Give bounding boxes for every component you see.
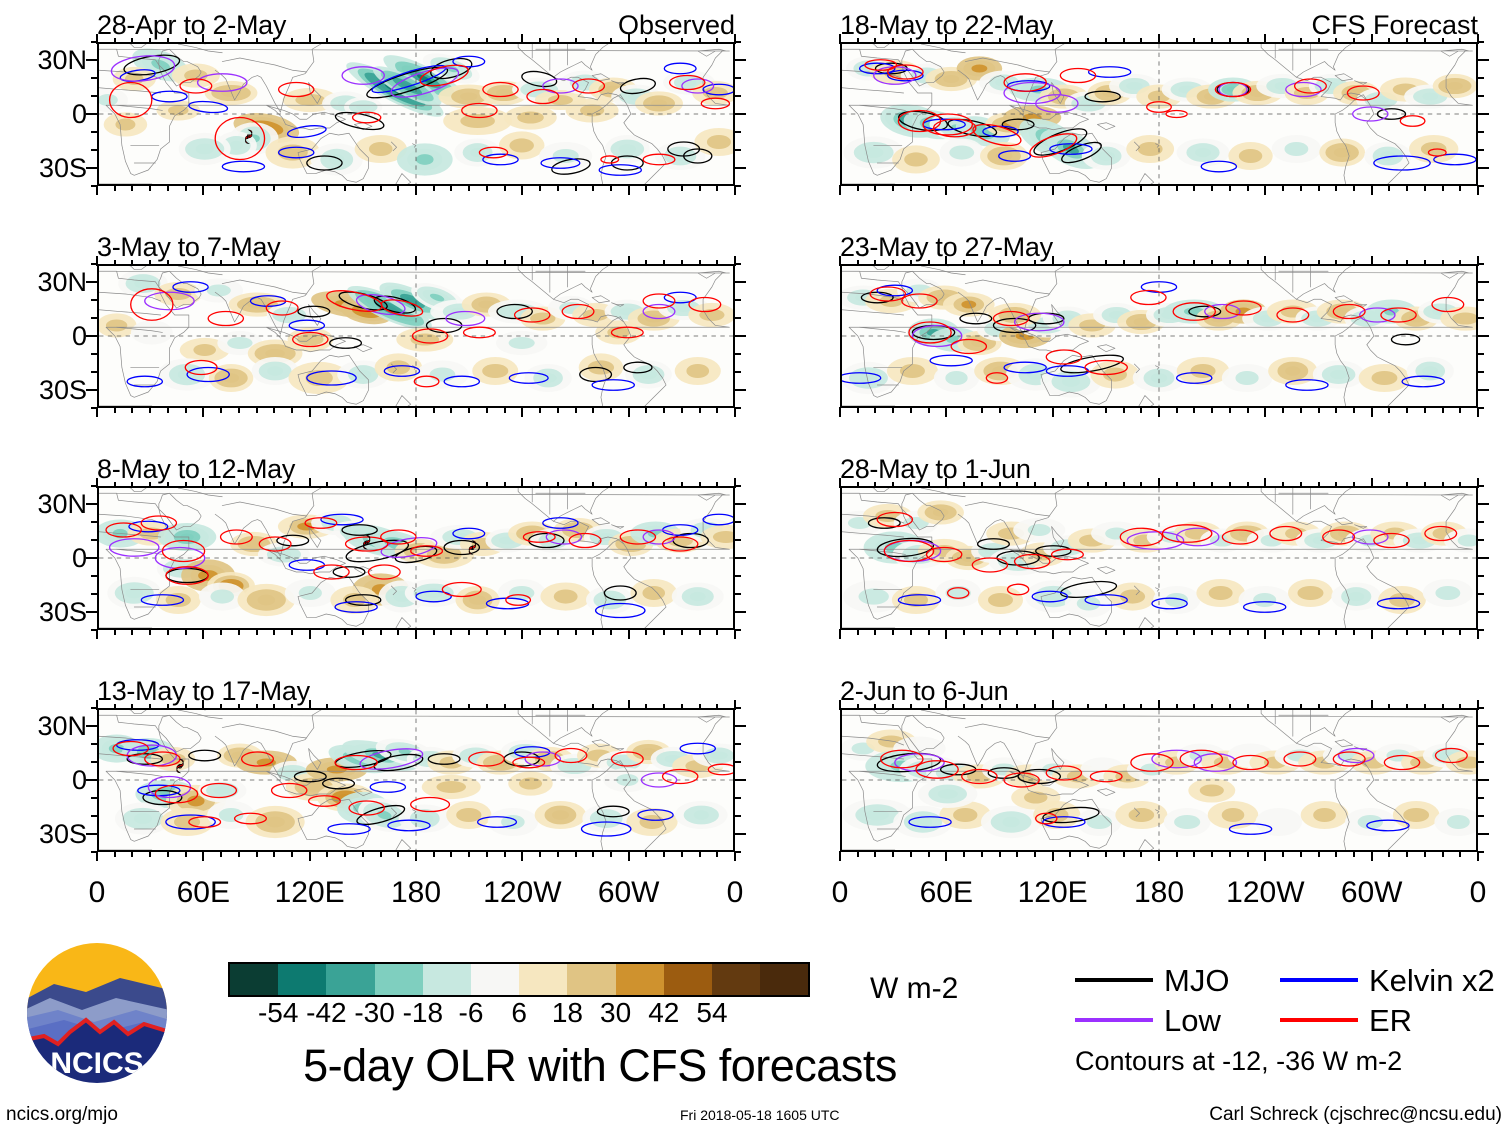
map-panel-fcst-1	[840, 42, 1478, 186]
x-tick	[1052, 700, 1054, 710]
x-tick	[1318, 260, 1320, 266]
x-tick	[928, 629, 930, 635]
x-tick	[1176, 185, 1178, 191]
y-tick-right	[734, 149, 741, 151]
x-tick	[504, 260, 506, 266]
y-axis-label-30S: 30S	[5, 155, 87, 182]
x-tick	[1105, 260, 1107, 266]
x-tick	[945, 851, 947, 861]
x-tick	[273, 482, 275, 488]
x-tick	[663, 38, 665, 44]
x-tick	[415, 700, 417, 710]
x-tick	[433, 704, 435, 710]
panel-title-obs-1: 28-Apr to 2-May	[97, 12, 286, 39]
x-tick	[1087, 38, 1089, 44]
footer-timestamp: Fri 2018-05-18 1605 UTC	[680, 1108, 840, 1122]
x-tick	[610, 704, 612, 710]
x-axis-label-180: 180	[1099, 878, 1219, 908]
x-tick	[1016, 185, 1018, 191]
y-tick	[91, 299, 98, 301]
colorbar-segment-9	[664, 964, 712, 995]
x-tick	[1477, 407, 1479, 417]
y-tick	[91, 815, 98, 817]
x-tick	[663, 482, 665, 488]
x-tick	[628, 185, 630, 195]
y-tick-right	[1477, 521, 1484, 523]
x-tick	[734, 407, 736, 417]
x-tick	[1211, 851, 1213, 857]
x-tick	[291, 482, 293, 488]
y-tick-right	[1477, 299, 1484, 301]
x-tick	[291, 260, 293, 266]
x-axis-label-0: 0	[675, 878, 795, 908]
x-tick	[1424, 704, 1426, 710]
x-tick	[1406, 260, 1408, 266]
x-tick	[539, 38, 541, 44]
legend-label-low: Low	[1164, 1005, 1221, 1036]
x-tick	[273, 38, 275, 44]
x-tick	[397, 704, 399, 710]
x-tick	[1442, 629, 1444, 635]
x-tick	[1087, 704, 1089, 710]
x-tick	[592, 629, 594, 635]
x-tick	[380, 185, 382, 191]
x-tick	[1052, 34, 1054, 44]
x-tick	[1087, 260, 1089, 266]
x-tick	[131, 407, 133, 413]
x-tick	[1442, 185, 1444, 191]
x-tick	[1388, 482, 1390, 488]
x-tick	[699, 482, 701, 488]
x-tick	[521, 34, 523, 44]
x-tick	[202, 851, 204, 861]
x-tick	[592, 704, 594, 710]
x-tick	[734, 256, 736, 266]
x-tick	[220, 704, 222, 710]
x-tick	[1087, 851, 1089, 857]
x-tick	[1300, 260, 1302, 266]
x-tick	[238, 185, 240, 191]
x-tick	[1335, 185, 1337, 191]
y-tick-right	[1477, 833, 1489, 835]
x-tick	[362, 407, 364, 413]
x-tick	[131, 704, 133, 710]
x-tick	[1335, 482, 1337, 488]
x-tick	[1158, 478, 1160, 488]
y-tick-right	[1477, 743, 1484, 745]
x-tick	[839, 185, 841, 195]
y-tick-right	[734, 611, 746, 613]
y-tick-right	[734, 335, 746, 337]
x-tick	[450, 851, 452, 857]
x-tick	[415, 256, 417, 266]
x-tick	[114, 704, 116, 710]
x-tick	[1016, 851, 1018, 857]
y-tick	[91, 77, 98, 79]
x-tick	[114, 629, 116, 635]
x-tick	[131, 482, 133, 488]
x-tick	[1318, 851, 1320, 857]
x-tick	[380, 704, 382, 710]
x-tick	[592, 260, 594, 266]
x-tick	[681, 38, 683, 44]
x-tick	[185, 260, 187, 266]
x-tick	[1140, 704, 1142, 710]
x-tick	[521, 700, 523, 710]
colorbar-segment-5	[471, 964, 519, 995]
x-tick	[575, 38, 577, 44]
x-tick	[397, 185, 399, 191]
x-tick	[1300, 704, 1302, 710]
y-tick-right	[734, 95, 741, 97]
x-tick	[539, 851, 541, 857]
x-tick	[415, 34, 417, 44]
x-tick	[504, 38, 506, 44]
y-tick-right	[734, 521, 741, 523]
x-tick	[1087, 629, 1089, 635]
y-tick	[86, 59, 98, 61]
x-tick	[131, 185, 133, 191]
x-tick	[309, 185, 311, 195]
x-tick	[874, 851, 876, 857]
x-tick	[1282, 704, 1284, 710]
x-tick	[1424, 407, 1426, 413]
x-tick	[945, 256, 947, 266]
x-tick	[185, 482, 187, 488]
x-tick	[202, 407, 204, 417]
x-tick	[999, 260, 1001, 266]
x-tick	[575, 407, 577, 413]
x-tick	[486, 260, 488, 266]
x-tick	[945, 629, 947, 639]
x-tick	[1016, 629, 1018, 635]
x-tick	[628, 34, 630, 44]
x-tick	[450, 629, 452, 635]
x-axis-label-180: 180	[356, 878, 476, 908]
x-tick	[557, 38, 559, 44]
y-tick-right	[734, 371, 741, 373]
x-tick	[645, 407, 647, 413]
x-tick	[114, 407, 116, 413]
x-axis-label-60W: 60W	[1312, 878, 1432, 908]
x-tick	[468, 851, 470, 857]
x-tick	[256, 260, 258, 266]
x-tick	[362, 482, 364, 488]
y-tick-right	[734, 539, 741, 541]
x-tick	[1371, 629, 1373, 639]
colorbar-swatches	[228, 962, 810, 997]
x-tick	[167, 185, 169, 191]
x-axis-label-0: 0	[1418, 878, 1510, 908]
legend-line-low	[1075, 1018, 1153, 1022]
x-tick	[1264, 478, 1266, 488]
x-tick	[1406, 851, 1408, 857]
x-tick	[645, 704, 647, 710]
x-tick	[220, 851, 222, 857]
x-tick	[734, 700, 736, 710]
legend-item-kelvin: Kelvin x2	[1280, 965, 1485, 996]
x-tick	[344, 851, 346, 857]
x-tick	[592, 407, 594, 413]
x-tick	[397, 260, 399, 266]
x-tick	[557, 482, 559, 488]
x-tick	[1140, 407, 1142, 413]
x-tick	[1176, 482, 1178, 488]
x-tick	[645, 38, 647, 44]
y-axis-label-30N: 30N	[5, 269, 87, 296]
x-tick	[1229, 851, 1231, 857]
x-tick	[839, 629, 841, 639]
x-tick	[1424, 629, 1426, 635]
x-tick	[1335, 407, 1337, 413]
y-axis-label-30S: 30S	[5, 821, 87, 848]
x-tick	[362, 629, 364, 635]
footer-site-link[interactable]: ncics.org/mjo	[6, 1105, 118, 1124]
x-tick	[344, 260, 346, 266]
x-tick	[273, 185, 275, 191]
x-tick	[874, 482, 876, 488]
x-tick	[291, 185, 293, 191]
x-tick	[1335, 38, 1337, 44]
y-tick-right	[734, 833, 746, 835]
x-tick	[220, 260, 222, 266]
x-tick	[1087, 407, 1089, 413]
x-tick	[344, 407, 346, 413]
x-tick	[1477, 629, 1479, 639]
x-tick	[1442, 260, 1444, 266]
x-tick	[557, 260, 559, 266]
x-tick	[1229, 407, 1231, 413]
x-tick	[167, 629, 169, 635]
x-tick	[663, 704, 665, 710]
x-tick	[610, 260, 612, 266]
y-tick	[91, 131, 98, 133]
y-tick-right	[1477, 131, 1484, 133]
x-tick	[1318, 704, 1320, 710]
x-tick	[344, 482, 346, 488]
x-tick	[185, 38, 187, 44]
x-tick	[220, 185, 222, 191]
y-tick-right	[734, 779, 746, 781]
x-tick	[149, 185, 151, 191]
y-tick-right	[1477, 371, 1484, 373]
y-tick-right	[1477, 593, 1484, 595]
x-tick	[575, 482, 577, 488]
y-tick-right	[734, 593, 741, 595]
y-tick-right	[1477, 113, 1489, 115]
x-tick	[575, 851, 577, 857]
x-tick	[380, 851, 382, 857]
x-tick	[699, 629, 701, 635]
x-tick	[468, 482, 470, 488]
y-tick-right	[734, 743, 741, 745]
x-tick	[96, 629, 98, 639]
x-tick	[734, 851, 736, 861]
x-tick	[1371, 851, 1373, 861]
x-tick	[415, 478, 417, 488]
x-axis-label-120W: 120W	[1205, 878, 1325, 908]
x-tick	[167, 38, 169, 44]
x-tick	[1264, 851, 1266, 861]
x-tick	[1176, 38, 1178, 44]
colorbar-tick-6: 6	[511, 999, 527, 1027]
x-tick	[1229, 185, 1231, 191]
x-tick	[397, 482, 399, 488]
x-tick	[1140, 38, 1142, 44]
x-tick	[380, 260, 382, 266]
x-tick	[1016, 38, 1018, 44]
x-tick	[185, 851, 187, 857]
x-tick	[1353, 704, 1355, 710]
x-tick	[1034, 704, 1036, 710]
x-tick	[1034, 407, 1036, 413]
x-tick	[504, 185, 506, 191]
x-tick	[1016, 704, 1018, 710]
y-axis-label-30S: 30S	[5, 377, 87, 404]
x-tick	[1282, 38, 1284, 44]
x-tick	[309, 851, 311, 861]
x-tick	[220, 482, 222, 488]
x-tick	[910, 38, 912, 44]
x-tick	[96, 256, 98, 266]
x-tick	[486, 38, 488, 44]
x-tick	[645, 260, 647, 266]
y-tick-right	[1477, 797, 1484, 799]
x-tick	[380, 38, 382, 44]
x-tick	[910, 851, 912, 857]
y-tick-right	[1477, 557, 1489, 559]
x-tick	[309, 700, 311, 710]
x-tick	[892, 407, 894, 413]
x-tick	[892, 629, 894, 635]
x-tick	[202, 629, 204, 639]
x-axis-label-60E: 60E	[886, 878, 1006, 908]
x-tick	[857, 407, 859, 413]
y-tick-right	[1477, 335, 1489, 337]
x-tick	[238, 851, 240, 857]
colorbar-segment-7	[567, 964, 615, 995]
x-tick	[645, 185, 647, 191]
y-tick-right	[734, 167, 746, 169]
x-tick	[114, 38, 116, 44]
x-tick	[1371, 407, 1373, 417]
x-tick	[1105, 407, 1107, 413]
x-tick	[1459, 851, 1461, 857]
x-tick	[220, 629, 222, 635]
y-tick-right	[1477, 761, 1484, 763]
x-tick	[450, 407, 452, 413]
x-tick	[892, 851, 894, 857]
x-tick	[504, 704, 506, 710]
x-tick	[945, 185, 947, 195]
x-tick	[716, 629, 718, 635]
y-tick	[91, 575, 98, 577]
x-tick	[1247, 704, 1249, 710]
x-tick	[220, 407, 222, 413]
y-axis-label-30N: 30N	[5, 713, 87, 740]
y-tick-right	[734, 77, 741, 79]
x-tick	[309, 478, 311, 488]
x-tick	[681, 704, 683, 710]
x-tick	[1353, 407, 1355, 413]
x-tick	[699, 185, 701, 191]
map-panel-obs-4: S	[97, 708, 735, 852]
x-tick	[663, 629, 665, 635]
x-tick	[1193, 260, 1195, 266]
x-tick	[1211, 185, 1213, 191]
x-tick	[1140, 851, 1142, 857]
x-tick	[1406, 185, 1408, 191]
x-tick	[610, 407, 612, 413]
x-tick	[981, 851, 983, 857]
y-tick	[86, 611, 98, 613]
x-tick	[963, 482, 965, 488]
x-tick	[1123, 704, 1125, 710]
x-tick	[1176, 629, 1178, 635]
x-tick	[1052, 407, 1054, 417]
x-tick	[699, 704, 701, 710]
legend-item-mjo: MJO	[1075, 965, 1280, 996]
x-tick	[486, 407, 488, 413]
x-tick	[557, 629, 559, 635]
x-axis-label-0: 0	[780, 878, 900, 908]
y-axis-label-0: 0	[5, 545, 87, 572]
x-tick	[1300, 185, 1302, 191]
x-tick	[149, 851, 151, 857]
legend-line-er	[1280, 1018, 1358, 1022]
x-tick	[1176, 704, 1178, 710]
x-tick	[309, 629, 311, 639]
x-tick	[1282, 407, 1284, 413]
x-tick	[1052, 629, 1054, 639]
x-tick	[539, 704, 541, 710]
x-tick	[1211, 407, 1213, 413]
x-tick	[1353, 482, 1355, 488]
y-tick-right	[734, 575, 741, 577]
x-tick	[1087, 482, 1089, 488]
x-tick	[1105, 482, 1107, 488]
x-tick	[1282, 482, 1284, 488]
map-panel-obs-2	[97, 264, 735, 408]
x-tick	[539, 482, 541, 488]
x-tick	[928, 704, 930, 710]
x-tick	[167, 704, 169, 710]
y-tick-right	[734, 503, 746, 505]
x-tick	[167, 851, 169, 857]
x-tick	[1477, 185, 1479, 195]
colorbar-segment-10	[712, 964, 760, 995]
x-tick	[1477, 256, 1479, 266]
x-tick	[1247, 407, 1249, 413]
x-tick	[114, 260, 116, 266]
x-tick	[645, 851, 647, 857]
x-tick	[999, 185, 1001, 191]
x-tick	[874, 185, 876, 191]
x-tick	[1388, 851, 1390, 857]
x-axis-label-120E: 120E	[993, 878, 1113, 908]
x-tick	[273, 260, 275, 266]
x-tick	[1282, 851, 1284, 857]
x-tick	[1424, 851, 1426, 857]
y-tick-right	[1477, 281, 1489, 283]
x-tick	[734, 185, 736, 195]
x-tick	[1264, 34, 1266, 44]
y-tick-right	[734, 557, 746, 559]
x-tick	[468, 704, 470, 710]
ncics-logo: NCICS	[24, 940, 170, 1086]
x-tick	[1318, 38, 1320, 44]
x-tick	[1016, 407, 1018, 413]
